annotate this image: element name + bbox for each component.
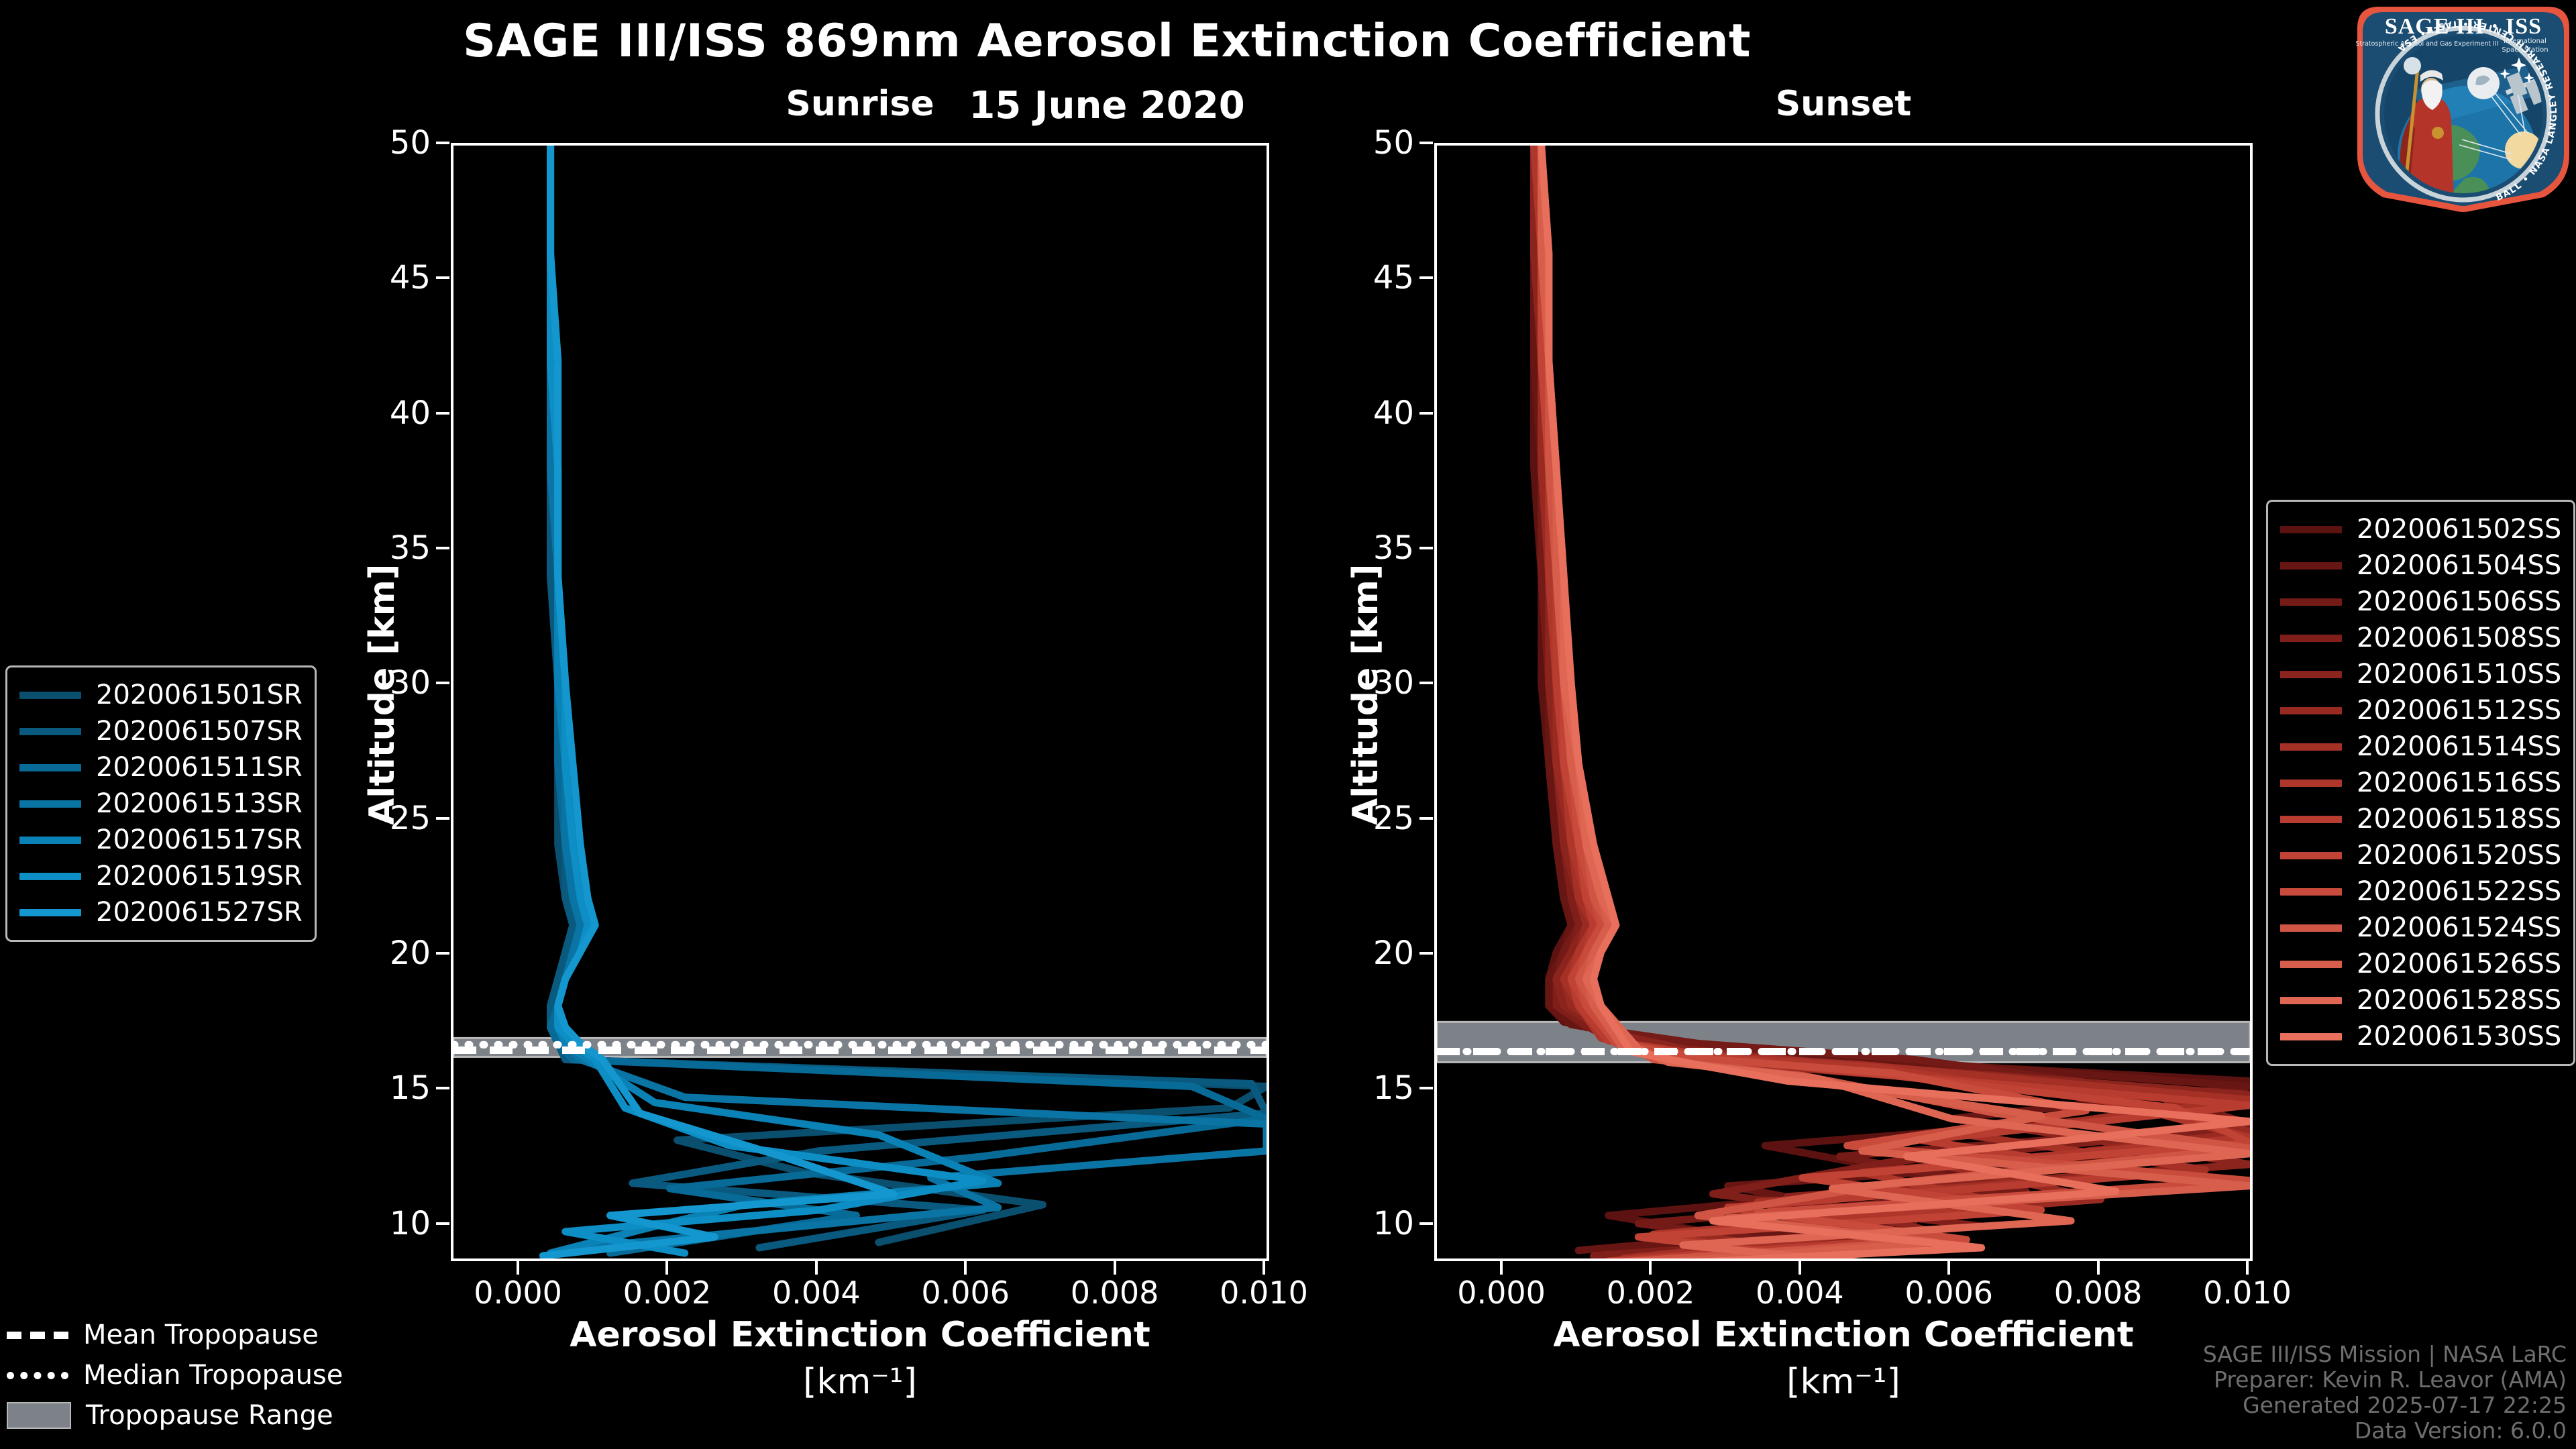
credits-generated: Generated 2025-07-17 22:25 [2203, 1393, 2567, 1418]
yaxis-tick-label: 35 [364, 532, 431, 564]
legend-item-label: 2020061511SR [96, 752, 303, 783]
sunset-legend-item[interactable]: 2020061530SS [2280, 1018, 2561, 1055]
yaxis-tick-mark [436, 547, 449, 549]
xaxis-tick-label: 0.002 [1570, 1275, 1731, 1311]
yaxis-tick-label: 50 [1347, 127, 1414, 159]
yaxis-tick-mark [436, 412, 449, 415]
page-title: SAGE III/ISS 869nm Aerosol Extinction Co… [0, 15, 2214, 68]
xaxis-tick-label: 0.008 [2018, 1275, 2179, 1311]
legend-color-swatch [2280, 888, 2342, 896]
sunrise-xaxis-label: Aerosol Extinction Coefficient [451, 1315, 1269, 1355]
sunset-legend-item[interactable]: 2020061518SS [2280, 801, 2561, 837]
sunset-plot-area [1434, 143, 2253, 1261]
yaxis-tick-label: 45 [364, 262, 431, 294]
yaxis-tick-mark [1419, 817, 1433, 820]
sunrise-xaxis-unit: [km⁻¹] [451, 1362, 1269, 1402]
yaxis-tick-label: 35 [1347, 532, 1414, 564]
yaxis-tick-label: 50 [364, 127, 431, 159]
legend-color-swatch [2280, 635, 2342, 642]
yaxis-tick-label: 15 [1347, 1072, 1414, 1104]
sunset-legend-item[interactable]: 2020061516SS [2280, 765, 2561, 801]
yaxis-tick-mark [436, 682, 449, 684]
xaxis-tick-mark [1947, 1261, 1950, 1275]
legend-color-swatch [2280, 562, 2342, 570]
xaxis-tick-mark [1500, 1261, 1503, 1275]
xaxis-tick-mark [1114, 1261, 1116, 1275]
yaxis-tick-mark [436, 1087, 449, 1089]
xaxis-tick-label: 0.010 [2167, 1275, 2328, 1311]
yaxis-tick-mark [436, 1222, 449, 1225]
xaxis-tick-mark [1799, 1261, 1801, 1275]
legend-item-label: 2020061524SS [2357, 912, 2561, 943]
sunrise-plot-area [451, 143, 1269, 1261]
sunset-legend-item[interactable]: 2020061514SS [2280, 729, 2561, 765]
xaxis-tick-mark [517, 1261, 519, 1275]
legend-color-swatch [2280, 671, 2342, 678]
legend-color-swatch [19, 837, 81, 844]
credits-mission: SAGE III/ISS Mission | NASA LaRC [2203, 1342, 2567, 1367]
xaxis-tick-label: 0.002 [586, 1275, 747, 1311]
tropopause-legend-swatch [7, 1332, 68, 1339]
tropopause-legend-swatch [7, 1402, 71, 1429]
sunset-legend-item[interactable]: 2020061526SS [2280, 946, 2561, 982]
legend-item-label: 2020061520SS [2357, 840, 2561, 871]
tropopause-legend-label: Mean Tropopause [83, 1320, 319, 1350]
legend-item-label: 2020061519SR [96, 861, 303, 892]
sunset-legend-item[interactable]: 2020061528SS [2280, 982, 2561, 1018]
legend-item-label: 2020061517SR [96, 824, 303, 855]
yaxis-tick-mark [1419, 412, 1433, 415]
tropopause-legend-swatch [7, 1372, 68, 1379]
legend-color-swatch [19, 728, 81, 735]
yaxis-tick-label: 10 [1347, 1207, 1414, 1240]
legend-item-label: 2020061514SS [2357, 731, 2561, 762]
legend-color-swatch [2280, 816, 2342, 823]
yaxis-tick-mark [1419, 952, 1433, 955]
xaxis-tick-mark [1263, 1261, 1265, 1275]
xaxis-tick-mark [665, 1261, 668, 1275]
legend-item-label: 2020061507SR [96, 716, 303, 747]
yaxis-tick-label: 45 [1347, 262, 1414, 294]
legend-color-swatch [2280, 743, 2342, 751]
legend-color-swatch [19, 909, 81, 916]
legend-color-swatch [2280, 598, 2342, 606]
yaxis-tick-label: 20 [1347, 937, 1414, 969]
tropopause-legend-item: Mean Tropopause [7, 1315, 343, 1355]
legend-item-label: 2020061530SS [2357, 1021, 2561, 1052]
legend-color-swatch [2280, 707, 2342, 714]
legend-item-label: 2020061528SS [2357, 985, 2561, 1016]
legend-item-label: 2020061516SS [2357, 767, 2561, 798]
legend-item-label: 2020061526SS [2357, 949, 2561, 979]
xaxis-tick-mark [964, 1261, 967, 1275]
yaxis-tick-mark [436, 276, 449, 279]
sunset-legend-item[interactable]: 2020061524SS [2280, 910, 2561, 946]
sunrise-legend-item[interactable]: 2020061519SR [19, 858, 303, 894]
yaxis-tick-mark [1419, 682, 1433, 684]
sunrise-legend-item[interactable]: 2020061501SR [19, 677, 303, 713]
legend-item-label: 2020061513SR [96, 788, 303, 819]
xaxis-tick-label: 0.008 [1034, 1275, 1195, 1311]
legend-color-swatch [2280, 997, 2342, 1004]
xaxis-tick-label: 0.006 [1868, 1275, 2029, 1311]
sunset-legend-item[interactable]: 2020061506SS [2280, 584, 2561, 620]
legend-item-label: 2020061518SS [2357, 804, 2561, 835]
yaxis-tick-mark [1419, 1222, 1433, 1225]
yaxis-tick-label: 15 [364, 1072, 431, 1104]
sunrise-plot-canvas [453, 146, 1267, 1258]
sunset-panel-title: Sunset [1434, 84, 2253, 124]
sage-iii-iss-mission-patch-logo: SAGE III · ISS Stratospheric Aerosol and… [2352, 1, 2575, 215]
sunrise-legend-item[interactable]: 2020061507SR [19, 713, 303, 749]
legend-color-swatch [2280, 852, 2342, 859]
yaxis-tick-label: 20 [364, 937, 431, 969]
sunset-legend-item[interactable]: 2020061520SS [2280, 837, 2561, 873]
legend-color-swatch [2280, 961, 2342, 968]
credits-version: Data Version: 6.0.0 [2203, 1418, 2567, 1444]
legend-color-swatch [19, 873, 81, 880]
legend-color-swatch [2280, 1033, 2342, 1040]
sunset-legend-item[interactable]: 2020061502SS [2280, 511, 2561, 547]
xaxis-tick-label: 0.004 [1719, 1275, 1880, 1311]
sunset-xaxis-label: Aerosol Extinction Coefficient [1434, 1315, 2253, 1355]
sunset-plot-canvas [1437, 146, 2250, 1258]
legend-color-swatch [2280, 780, 2342, 787]
xaxis-tick-label: 0.010 [1183, 1275, 1344, 1311]
yaxis-tick-mark [1419, 1087, 1433, 1089]
yaxis-tick-mark [436, 817, 449, 820]
legend-color-swatch [2280, 526, 2342, 533]
data-series-line [1534, 146, 2250, 1248]
xaxis-tick-mark [815, 1261, 818, 1275]
sunset-legend-item[interactable]: 2020061504SS [2280, 547, 2561, 584]
sunrise-yaxis-label: Altitude [km] [362, 563, 402, 825]
tropopause-legend-item: Tropopause Range [7, 1395, 343, 1436]
tropopause-legend: Mean TropopauseMedian TropopauseTropopau… [7, 1315, 343, 1436]
xaxis-tick-label: 0.004 [736, 1275, 897, 1311]
legend-item-label: 2020061510SS [2357, 659, 2561, 690]
sunrise-panel-title: Sunrise [451, 84, 1269, 124]
legend-color-swatch [19, 800, 81, 808]
legend-item-label: 2020061502SS [2357, 514, 2561, 545]
legend-color-swatch [2280, 924, 2342, 932]
xaxis-tick-label: 0.000 [1421, 1275, 1582, 1311]
yaxis-tick-label: 40 [1347, 397, 1414, 429]
credits-preparer: Preparer: Kevin R. Leavor (AMA) [2203, 1367, 2567, 1393]
sunrise-legend-item[interactable]: 2020061517SR [19, 822, 303, 858]
xaxis-tick-label: 0.006 [885, 1275, 1046, 1311]
yaxis-tick-mark [1419, 142, 1433, 144]
sunset-legend-item[interactable]: 2020061510SS [2280, 656, 2561, 692]
sunset-legend[interactable]: 2020061502SS2020061504SS2020061506SS2020… [2266, 500, 2575, 1066]
sunset-legend-item[interactable]: 2020061512SS [2280, 692, 2561, 729]
tropopause-legend-label: Median Tropopause [83, 1360, 343, 1391]
xaxis-tick-mark [1649, 1261, 1652, 1275]
legend-item-label: 2020061501SR [96, 680, 303, 710]
sunrise-legend[interactable]: 2020061501SR2020061507SR2020061511SR2020… [5, 665, 317, 942]
yaxis-tick-mark [1419, 276, 1433, 279]
xaxis-tick-mark [2097, 1261, 2100, 1275]
data-series-line [551, 146, 983, 1253]
yaxis-tick-label: 40 [364, 397, 431, 429]
sunrise-legend-item[interactable]: 2020061513SR [19, 786, 303, 822]
sunset-yaxis-label: Altitude [km] [1346, 563, 1386, 825]
tropopause-legend-label: Tropopause Range [86, 1400, 333, 1431]
legend-color-swatch [19, 764, 81, 771]
legend-item-label: 2020061512SS [2357, 695, 2561, 726]
legend-item-label: 2020061506SS [2357, 586, 2561, 617]
data-series-line [543, 146, 894, 1256]
legend-item-label: 2020061504SS [2357, 550, 2561, 581]
legend-color-swatch [19, 692, 81, 699]
sunset-legend-item[interactable]: 2020061522SS [2280, 873, 2561, 910]
logo-subtitle-left: Stratospheric Aerosol and Gas Experiment… [2355, 40, 2498, 48]
yaxis-tick-mark [1419, 547, 1433, 549]
xaxis-tick-mark [2246, 1261, 2249, 1275]
sunrise-legend-item[interactable]: 2020061527SR [19, 894, 303, 930]
legend-item-label: 2020061522SS [2357, 876, 2561, 907]
xaxis-tick-label: 0.000 [437, 1275, 598, 1311]
yaxis-tick-mark [436, 952, 449, 955]
legend-item-label: 2020061527SR [96, 897, 303, 928]
sunset-xaxis-unit: [km⁻¹] [1434, 1362, 2253, 1402]
yaxis-tick-mark [436, 142, 449, 144]
credits-block: SAGE III/ISS Mission | NASA LaRC Prepare… [2203, 1342, 2567, 1444]
tropopause-legend-item: Median Tropopause [7, 1355, 343, 1395]
sunrise-legend-item[interactable]: 2020061511SR [19, 749, 303, 786]
sunset-legend-item[interactable]: 2020061508SS [2280, 620, 2561, 656]
yaxis-tick-label: 10 [364, 1207, 431, 1240]
legend-item-label: 2020061508SS [2357, 623, 2561, 653]
